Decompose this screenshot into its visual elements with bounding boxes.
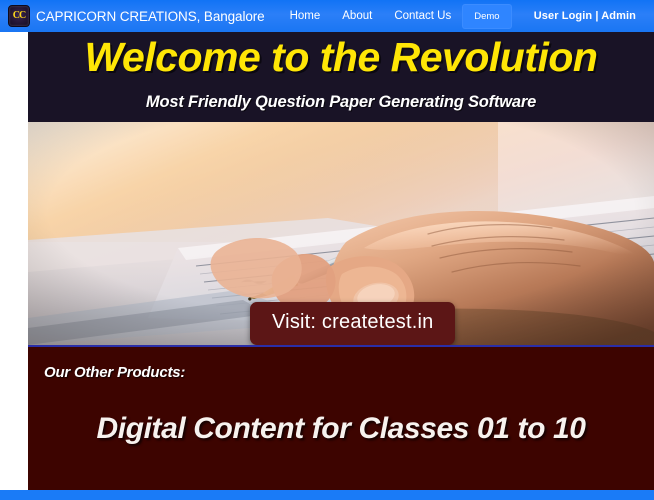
hero-banner-image: Visit: createtest.in xyxy=(28,122,654,345)
top-navigation-bar: CC CAPRICORN CREATIONS, Bangalore Home A… xyxy=(0,0,654,32)
nav-item-contact-us[interactable]: Contact Us xyxy=(383,6,462,26)
footer-bar xyxy=(0,490,654,500)
page-subtitle: Most Friendly Question Paper Generating … xyxy=(28,93,654,112)
visit-url-badge[interactable]: Visit: createtest.in xyxy=(250,302,455,345)
left-gutter xyxy=(0,32,28,490)
page-title: Welcome to the Revolution xyxy=(28,34,654,81)
nav-item-demo[interactable]: Demo xyxy=(462,4,511,29)
logo-monogram-text: CC xyxy=(13,11,25,21)
other-products-label: Our Other Products: xyxy=(44,364,185,381)
hero-header-panel: Welcome to the Revolution Most Friendly … xyxy=(28,32,654,124)
other-products-headline[interactable]: Digital Content for Classes 01 to 10 xyxy=(28,412,654,446)
page-root: CC CAPRICORN CREATIONS, Bangalore Home A… xyxy=(0,0,654,500)
nav-item-about[interactable]: About xyxy=(331,6,383,26)
brand[interactable]: CC CAPRICORN CREATIONS, Bangalore xyxy=(4,5,265,27)
brand-title: CAPRICORN CREATIONS, Bangalore xyxy=(36,9,265,24)
capricorn-cc-logo-icon: CC xyxy=(8,5,30,27)
nav-links: Home About Contact Us Demo xyxy=(279,4,512,29)
nav-item-home[interactable]: Home xyxy=(279,6,332,26)
other-products-panel: Our Other Products: Digital Content for … xyxy=(28,345,654,492)
user-login-admin-link[interactable]: User Login | Admin xyxy=(534,10,646,22)
